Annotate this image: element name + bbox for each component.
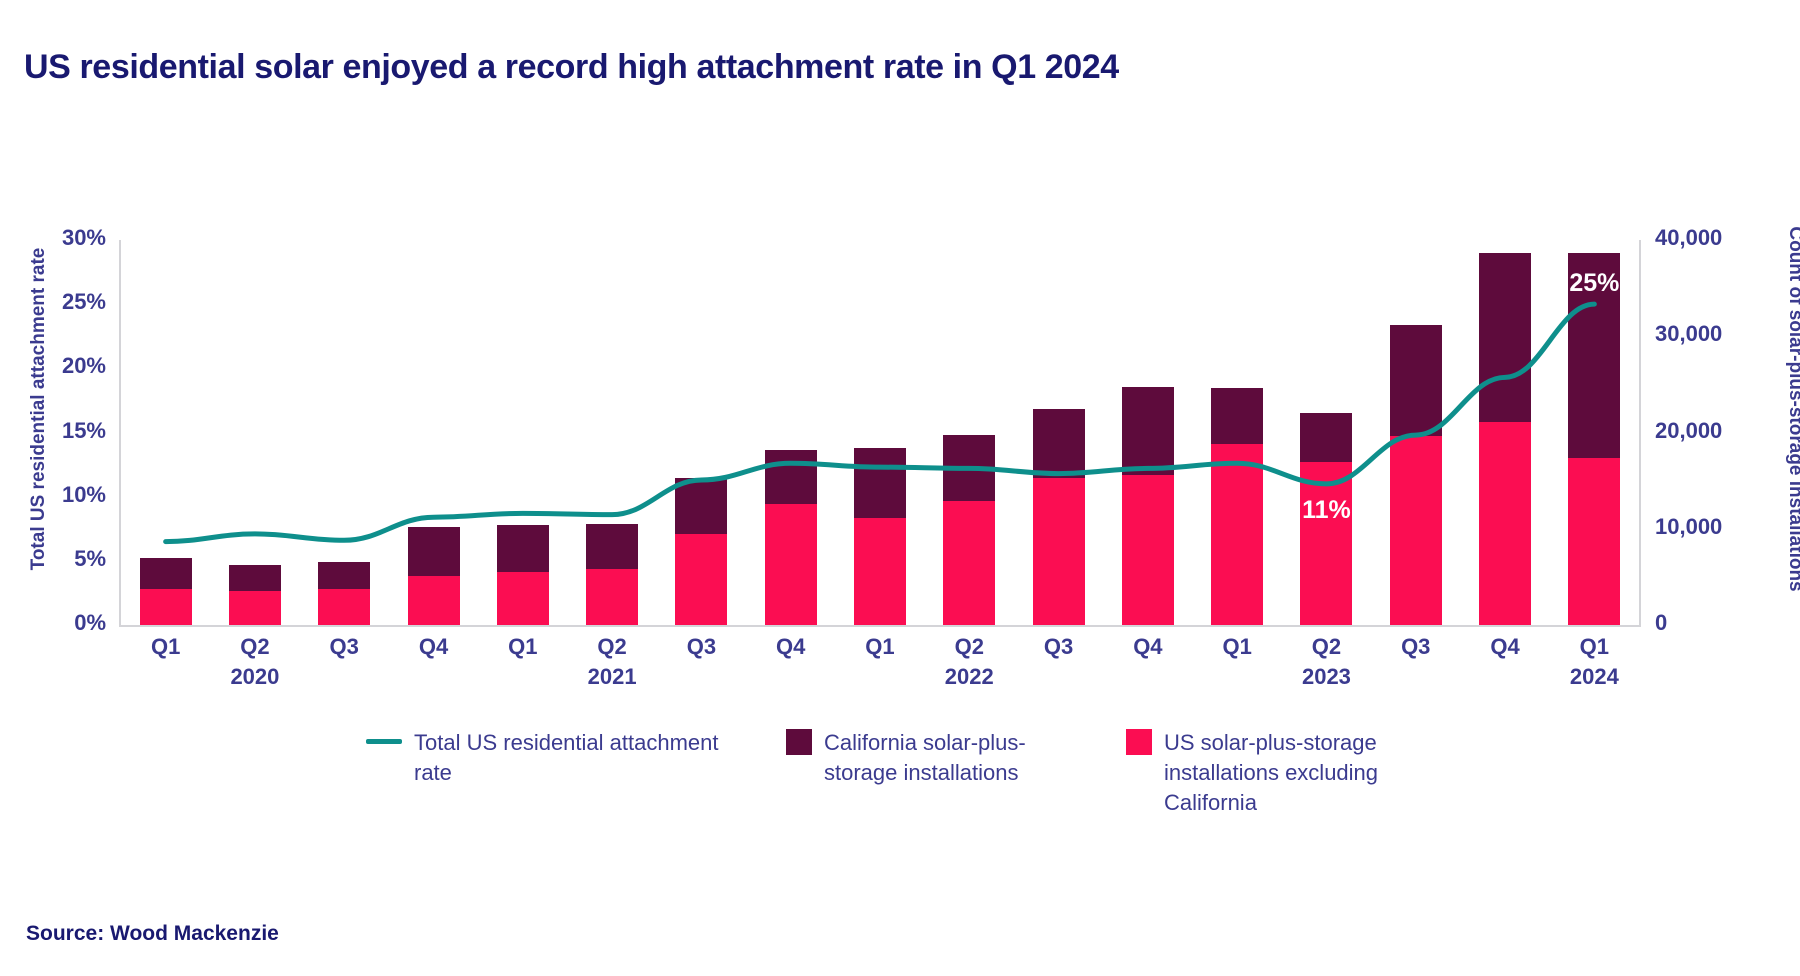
x-axis-quarter-label: Q2	[1312, 634, 1341, 659]
x-axis-tick-label: Q3	[1371, 632, 1460, 662]
x-axis-quarter-label: Q3	[1044, 634, 1073, 659]
bar-segment-us-ex-california[interactable]	[318, 589, 370, 625]
stacked-bar[interactable]	[765, 450, 817, 625]
stacked-bar[interactable]	[675, 478, 727, 625]
bar-slot	[300, 240, 389, 625]
x-axis-tick-label: Q1	[1193, 632, 1282, 662]
bar-segment-us-ex-california[interactable]	[675, 534, 727, 625]
stacked-bar[interactable]	[140, 558, 192, 625]
bar-slot	[567, 240, 656, 625]
legend-item-label: Total US residential attachment rate	[414, 728, 754, 788]
bar-slot	[925, 240, 1014, 625]
bar-segment-us-ex-california[interactable]	[497, 572, 549, 625]
bar-slot	[1193, 240, 1282, 625]
bar-segment-california[interactable]	[1390, 325, 1442, 437]
right-axis-tick-label: 40,000	[1655, 225, 1785, 251]
bar-segment-california[interactable]	[229, 565, 281, 591]
bar-segment-us-ex-california[interactable]	[1390, 436, 1442, 625]
legend-item-label: US solar-plus-storage installations excl…	[1164, 728, 1434, 818]
bar-segment-california[interactable]	[1033, 409, 1085, 477]
x-axis-tick-label: Q1	[478, 632, 567, 662]
x-axis-ticks: Q1Q22020Q3Q4Q1Q22021Q3Q4Q1Q22022Q3Q4Q1Q2…	[121, 632, 1639, 712]
stacked-bar[interactable]	[943, 435, 995, 625]
x-axis-tick-label: Q22020	[210, 632, 299, 692]
bar-slot	[389, 240, 478, 625]
bar-slot	[121, 240, 210, 625]
stacked-bar[interactable]	[229, 565, 281, 625]
x-axis-tick-label: Q4	[1103, 632, 1192, 662]
bar-slot	[1371, 240, 1460, 625]
chart-plot-area: Total US residential attachment rate Cou…	[0, 200, 1800, 720]
x-axis-tick-label: Q3	[657, 632, 746, 662]
bar-segment-us-ex-california[interactable]	[1122, 475, 1174, 625]
x-axis-tick-label: Q3	[1014, 632, 1103, 662]
bar-segment-california[interactable]	[1568, 253, 1620, 457]
x-axis-quarter-label: Q4	[419, 634, 448, 659]
bar-segment-california[interactable]	[497, 525, 549, 572]
x-axis-year-label: 2021	[567, 662, 656, 692]
x-axis-quarter-label: Q4	[1490, 634, 1519, 659]
x-axis-quarter-label: Q2	[955, 634, 984, 659]
x-axis-tick-label: Q22023	[1282, 632, 1371, 692]
stacked-bar[interactable]	[1390, 325, 1442, 625]
bar-segment-california[interactable]	[408, 527, 460, 576]
right-axis-line	[1639, 240, 1641, 626]
stacked-bar[interactable]	[497, 525, 549, 625]
bar-segment-us-ex-california[interactable]	[586, 569, 638, 625]
stacked-bar[interactable]	[318, 562, 370, 625]
legend-item[interactable]: US solar-plus-storage installations excl…	[1126, 728, 1434, 818]
x-axis-quarter-label: Q3	[687, 634, 716, 659]
bar-segment-california[interactable]	[1300, 413, 1352, 462]
bar-segment-us-ex-california[interactable]	[1300, 462, 1352, 625]
bar-slot	[835, 240, 924, 625]
right-axis-tick-label: 10,000	[1655, 514, 1785, 540]
x-axis-quarter-label: Q4	[1133, 634, 1162, 659]
bar-segment-california[interactable]	[854, 448, 906, 518]
x-axis-tick-label: Q12024	[1550, 632, 1639, 692]
bar-segment-us-ex-california[interactable]	[854, 518, 906, 625]
legend-swatch-california-icon	[786, 729, 812, 755]
bar-slot	[1282, 240, 1371, 625]
x-axis-year-label: 2023	[1282, 662, 1371, 692]
x-axis-quarter-label: Q2	[597, 634, 626, 659]
bar-segment-california[interactable]	[1479, 253, 1531, 421]
x-axis-tick-label: Q22021	[567, 632, 656, 692]
legend-item-label: California solar-plus-storage installati…	[824, 728, 1094, 788]
left-axis-tick-label: 0%	[0, 610, 106, 636]
stacked-bar[interactable]	[1300, 413, 1352, 625]
bar-segment-california[interactable]	[675, 478, 727, 534]
x-axis-quarter-label: Q1	[1222, 634, 1251, 659]
stacked-bar[interactable]	[1479, 253, 1531, 625]
bar-segment-california[interactable]	[1211, 388, 1263, 444]
bar-slot	[1014, 240, 1103, 625]
right-axis-tick-label: 0	[1655, 610, 1785, 636]
bar-slot	[1103, 240, 1192, 625]
stacked-bar[interactable]	[1568, 253, 1620, 625]
x-axis-quarter-label: Q3	[330, 634, 359, 659]
stacked-bar[interactable]	[1122, 387, 1174, 625]
bar-segment-california[interactable]	[586, 524, 638, 569]
stacked-bar[interactable]	[854, 448, 906, 625]
right-axis-title: Count of solar-plus-storage installation…	[1784, 199, 1800, 619]
bar-segment-california[interactable]	[765, 450, 817, 504]
x-axis-tick-label: Q1	[835, 632, 924, 662]
bar-segment-us-ex-california[interactable]	[765, 504, 817, 625]
bar-segment-us-ex-california[interactable]	[229, 591, 281, 625]
legend-swatch-us-icon	[1126, 729, 1152, 755]
bar-slot	[746, 240, 835, 625]
left-axis-tick-label: 15%	[0, 418, 106, 444]
stacked-bar[interactable]	[586, 524, 638, 625]
stacked-bar[interactable]	[1211, 388, 1263, 625]
bar-slot	[1460, 240, 1549, 625]
bar-segment-california[interactable]	[1122, 387, 1174, 475]
left-axis-tick-label: 10%	[0, 482, 106, 508]
bar-slot	[478, 240, 567, 625]
x-axis-year-label: 2024	[1550, 662, 1639, 692]
x-axis-quarter-label: Q1	[1580, 634, 1609, 659]
x-axis-quarter-label: Q4	[776, 634, 805, 659]
x-axis-quarter-label: Q1	[865, 634, 894, 659]
bar-segment-us-ex-california[interactable]	[1033, 478, 1085, 625]
legend-item[interactable]: Total US residential attachment rate	[366, 728, 754, 788]
bar-segment-us-ex-california[interactable]	[1568, 458, 1620, 625]
x-axis-tick-label: Q22022	[925, 632, 1014, 692]
x-axis-quarter-label: Q2	[240, 634, 269, 659]
bar-series-group: 11%25%	[121, 240, 1639, 625]
x-axis-tick-label: Q4	[746, 632, 835, 662]
right-axis-tick-label: 30,000	[1655, 321, 1785, 347]
x-axis-quarter-label: Q1	[151, 634, 180, 659]
bar-slot	[1550, 240, 1639, 625]
legend-line-marker-icon	[366, 739, 402, 744]
legend-item[interactable]: California solar-plus-storage installati…	[786, 728, 1094, 788]
bar-segment-us-ex-california[interactable]	[1211, 444, 1263, 625]
bar-segment-us-ex-california[interactable]	[140, 589, 192, 625]
bar-segment-california[interactable]	[140, 558, 192, 590]
left-axis-title: Total US residential attachment rate	[28, 219, 50, 599]
left-axis-tick-label: 30%	[0, 225, 106, 251]
x-axis-quarter-label: Q3	[1401, 634, 1430, 659]
bar-slot	[657, 240, 746, 625]
x-axis-year-label: 2020	[210, 662, 299, 692]
right-axis-tick-label: 20,000	[1655, 418, 1785, 444]
source-note: Source: Wood Mackenzie	[26, 922, 279, 946]
bar-segment-us-ex-california[interactable]	[943, 501, 995, 625]
x-axis-tick-label: Q4	[389, 632, 478, 662]
x-axis-quarter-label: Q1	[508, 634, 537, 659]
chart-page: US residential solar enjoyed a record hi…	[0, 0, 1800, 976]
x-axis-baseline	[119, 625, 1641, 627]
page-title: US residential solar enjoyed a record hi…	[24, 48, 1119, 87]
x-axis-tick-label: Q4	[1460, 632, 1549, 662]
left-axis-tick-label: 20%	[0, 353, 106, 379]
stacked-bar[interactable]	[1033, 409, 1085, 625]
x-axis-tick-label: Q3	[300, 632, 389, 662]
left-axis-tick-label: 5%	[0, 546, 106, 572]
bar-slot	[210, 240, 299, 625]
stacked-bar[interactable]	[408, 527, 460, 625]
chart-legend: Total US residential attachment rateCali…	[0, 728, 1800, 818]
left-axis-tick-label: 25%	[0, 289, 106, 315]
bar-segment-california[interactable]	[943, 435, 995, 500]
x-axis-tick-label: Q1	[121, 632, 210, 662]
x-axis-year-label: 2022	[925, 662, 1014, 692]
bar-segment-california[interactable]	[318, 562, 370, 589]
bar-segment-us-ex-california[interactable]	[408, 576, 460, 625]
bar-segment-us-ex-california[interactable]	[1479, 422, 1531, 625]
